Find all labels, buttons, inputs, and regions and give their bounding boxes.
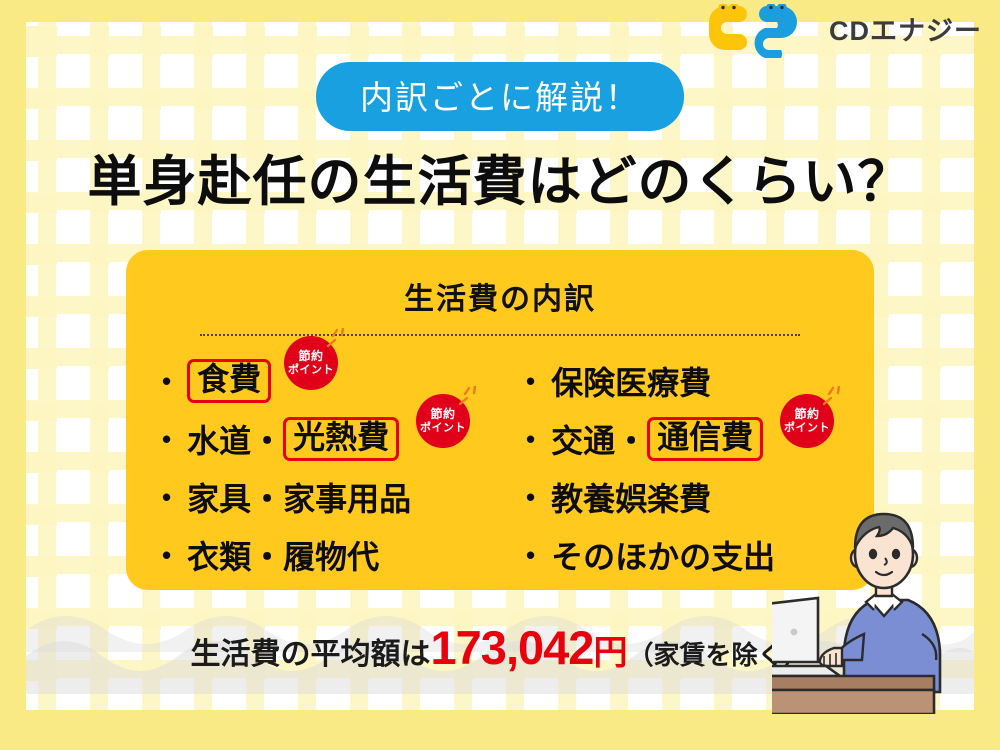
expense-item-label: そのほかの支出 bbox=[551, 532, 775, 578]
expense-item-highlight: 光熱費 bbox=[283, 417, 399, 462]
expense-item-label: 教養娯楽費 bbox=[551, 474, 711, 520]
footer-prefix: 生活費の平均額は bbox=[191, 638, 431, 671]
expense-item-label: 水道・ bbox=[187, 416, 283, 462]
savings-point-line1: 節約 bbox=[430, 408, 455, 421]
breakdown-column-left: •食費節約ポイント•水道・光熱費節約ポイント•家具・家事用品•衣類・履物代 bbox=[126, 352, 500, 584]
savings-point-line2: ポイント bbox=[420, 422, 466, 434]
bullet-icon: • bbox=[162, 368, 171, 394]
footer-unit: 円 bbox=[593, 634, 627, 672]
expense-item: •家具・家事用品 bbox=[162, 468, 500, 526]
expense-item-highlight: 食費 bbox=[187, 359, 271, 404]
infographic-canvas: CDエナジー 内訳ごとに解説！ 単身赴任の生活費はどのくらい？ 生活費の内訳 •… bbox=[0, 0, 1000, 750]
expense-item-label: 衣類・履物代 bbox=[187, 532, 379, 578]
bullet-icon: • bbox=[526, 368, 535, 394]
expense-item-label: 家具・家事用品 bbox=[187, 474, 411, 520]
expense-item-label: 保険医療費 bbox=[551, 358, 711, 404]
brand-logo[interactable]: CDエナジー bbox=[697, 4, 982, 58]
savings-point-badge[interactable]: 節約ポイント bbox=[416, 394, 474, 452]
bullet-icon: • bbox=[526, 484, 535, 510]
savings-point-line1: 節約 bbox=[298, 350, 323, 363]
breakdown-columns: •食費節約ポイント•水道・光熱費節約ポイント•家具・家事用品•衣類・履物代 •保… bbox=[126, 336, 874, 584]
savings-point-line1: 節約 bbox=[794, 408, 819, 421]
expense-item-label: 交通・ bbox=[551, 416, 647, 462]
card-title: 生活費の内訳 bbox=[126, 250, 874, 318]
savings-point-line2: ポイント bbox=[784, 422, 830, 434]
savings-point-badge[interactable]: 節約ポイント bbox=[284, 336, 342, 394]
cd-energy-mascot-logo bbox=[697, 4, 817, 58]
page-title: 単身赴任の生活費はどのくらい？ bbox=[0, 137, 1000, 216]
expense-item-highlight: 通信費 bbox=[647, 417, 763, 462]
expense-item: •交通・通信費節約ポイント bbox=[526, 410, 874, 468]
sparkle-rays-icon bbox=[456, 386, 490, 420]
savings-point-badge[interactable]: 節約ポイント bbox=[780, 394, 838, 452]
brand-logo-text: CDエナジー bbox=[829, 18, 982, 45]
bullet-icon: • bbox=[526, 426, 535, 452]
bullet-icon: • bbox=[162, 484, 171, 510]
man-using-laptop-at-desk-illustration bbox=[772, 484, 992, 714]
expense-item: •衣類・履物代 bbox=[162, 526, 500, 584]
bullet-icon: • bbox=[526, 542, 535, 568]
footer-amount: 173,042 bbox=[431, 621, 594, 674]
breakdown-card: 生活費の内訳 •食費節約ポイント•水道・光熱費節約ポイント•家具・家事用品•衣類… bbox=[126, 250, 874, 590]
bullet-icon: • bbox=[162, 426, 171, 452]
sparkle-rays-icon bbox=[820, 386, 854, 420]
sparkle-rays-icon bbox=[324, 328, 358, 362]
expense-item: •水道・光熱費節約ポイント bbox=[162, 410, 500, 468]
bullet-icon: • bbox=[162, 542, 171, 568]
savings-point-line2: ポイント bbox=[288, 364, 334, 376]
subtitle-badge: 内訳ごとに解説！ bbox=[316, 62, 684, 131]
